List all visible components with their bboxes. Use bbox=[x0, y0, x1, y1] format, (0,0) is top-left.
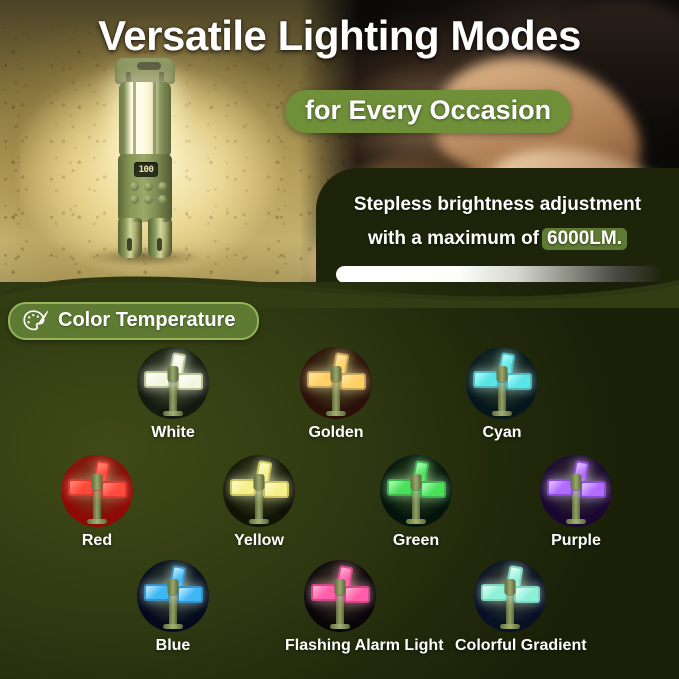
light-head-hub bbox=[571, 474, 582, 490]
light-mode-label: Cyan bbox=[447, 424, 557, 442]
light-head-hub bbox=[335, 579, 346, 595]
led-panel-right bbox=[177, 373, 203, 390]
lantern-legs bbox=[118, 218, 172, 258]
headline-subtitle-badge: for Every Occasion bbox=[285, 90, 571, 133]
light-mode-label: Green bbox=[361, 532, 471, 550]
led-lens bbox=[422, 483, 444, 496]
light-stand-foot bbox=[163, 411, 183, 416]
light-stand-pole bbox=[572, 491, 580, 521]
led-lens bbox=[70, 481, 92, 494]
led-panel-right bbox=[344, 586, 370, 603]
led-panel-right bbox=[340, 373, 366, 390]
light-stand-foot bbox=[492, 411, 512, 416]
led-lens bbox=[389, 481, 411, 494]
color-mode-flashing-alarm-light[interactable]: Flashing Alarm Light bbox=[285, 560, 395, 655]
light-mode-thumbnail[interactable] bbox=[540, 455, 612, 527]
led-panel-right bbox=[506, 373, 532, 390]
led-panel-left bbox=[311, 584, 337, 601]
brightness-line-1: Stepless brightness adjustment bbox=[316, 194, 679, 216]
light-mode-label: Yellow bbox=[204, 532, 314, 550]
light-stand-foot bbox=[566, 519, 586, 524]
brightness-line-2: with a maximum of6000LM. bbox=[316, 228, 679, 250]
light-head-hub bbox=[92, 474, 103, 490]
lantern-tube-rib bbox=[153, 82, 156, 158]
led-lens bbox=[483, 586, 505, 599]
led-panel-left bbox=[144, 584, 170, 601]
led-panel-right bbox=[514, 586, 540, 603]
led-lens bbox=[265, 483, 287, 496]
led-lens bbox=[549, 481, 571, 494]
led-panel-left bbox=[481, 584, 507, 601]
light-stand-foot bbox=[249, 519, 269, 524]
light-mode-label: Colorful Gradient bbox=[455, 637, 565, 655]
light-mode-thumbnail[interactable] bbox=[137, 560, 209, 632]
led-panel-left bbox=[144, 371, 170, 388]
led-lens bbox=[146, 586, 168, 599]
light-mode-thumbnail[interactable] bbox=[466, 347, 538, 419]
lantern-key bbox=[158, 182, 167, 191]
light-mode-thumbnail[interactable] bbox=[61, 455, 133, 527]
lantern-display-value: 100 bbox=[139, 165, 154, 175]
palette-icon bbox=[23, 310, 49, 332]
light-stand-pole bbox=[332, 383, 340, 413]
light-head-hub bbox=[168, 366, 179, 382]
lantern-leg-slot bbox=[127, 238, 132, 251]
light-stand-pole bbox=[498, 383, 506, 413]
color-mode-purple[interactable]: Purple bbox=[521, 455, 631, 550]
led-lens bbox=[508, 375, 530, 388]
lantern-cap bbox=[115, 58, 175, 84]
led-lens bbox=[475, 373, 497, 386]
light-mode-thumbnail[interactable] bbox=[380, 455, 452, 527]
lantern-keypad bbox=[130, 182, 167, 204]
lantern-light-tube bbox=[119, 82, 171, 158]
color-mode-yellow[interactable]: Yellow bbox=[204, 455, 314, 550]
led-lens bbox=[313, 586, 335, 599]
led-panel-left bbox=[68, 479, 94, 496]
color-temperature-label: Color Temperature bbox=[58, 309, 235, 332]
light-mode-thumbnail[interactable] bbox=[304, 560, 376, 632]
led-panel-left bbox=[473, 371, 499, 388]
light-mode-label: Purple bbox=[521, 532, 631, 550]
light-stand-pole bbox=[336, 596, 344, 626]
led-panel-left bbox=[307, 371, 333, 388]
lantern-body: 100 bbox=[118, 154, 172, 222]
led-panel-right bbox=[101, 481, 127, 498]
light-stand-foot bbox=[326, 411, 346, 416]
led-lens bbox=[146, 373, 168, 386]
lantern-top-button bbox=[137, 62, 161, 70]
lantern-leg-slot bbox=[157, 238, 162, 251]
color-mode-colorful-gradient[interactable]: Colorful Gradient bbox=[455, 560, 565, 655]
light-mode-label: Blue bbox=[118, 637, 228, 655]
led-lens bbox=[179, 588, 201, 601]
lantern-key bbox=[158, 195, 167, 204]
light-mode-thumbnail[interactable] bbox=[474, 560, 546, 632]
light-stand-foot bbox=[406, 519, 426, 524]
light-head-hub bbox=[254, 474, 265, 490]
color-mode-golden[interactable]: Golden bbox=[281, 347, 391, 442]
lantern-leg-left bbox=[118, 218, 142, 258]
light-head-hub bbox=[505, 579, 516, 595]
light-head-hub bbox=[411, 474, 422, 490]
light-stand-pole bbox=[93, 491, 101, 521]
lantern-tube-rib bbox=[133, 82, 136, 158]
led-lens bbox=[103, 483, 125, 496]
lumens-badge: 6000LM. bbox=[542, 228, 627, 250]
light-stand-pole bbox=[169, 383, 177, 413]
light-stand-pole bbox=[412, 491, 420, 521]
light-mode-thumbnail[interactable] bbox=[300, 347, 372, 419]
color-mode-green[interactable]: Green bbox=[361, 455, 471, 550]
light-stand-pole bbox=[506, 596, 514, 626]
led-lens bbox=[582, 483, 604, 496]
light-head-hub bbox=[497, 366, 508, 382]
light-mode-label: White bbox=[118, 424, 228, 442]
color-temperature-header: Color Temperature bbox=[8, 302, 259, 340]
color-mode-red[interactable]: Red bbox=[42, 455, 152, 550]
light-mode-thumbnail[interactable] bbox=[223, 455, 295, 527]
lantern-key bbox=[130, 182, 139, 191]
led-lens bbox=[232, 481, 254, 494]
led-panel-right bbox=[580, 481, 606, 498]
light-mode-label: Golden bbox=[281, 424, 391, 442]
color-mode-blue[interactable]: Blue bbox=[118, 560, 228, 655]
light-head-hub bbox=[331, 366, 342, 382]
light-stand-foot bbox=[87, 519, 107, 524]
led-lens bbox=[309, 373, 331, 386]
lantern-key bbox=[130, 195, 139, 204]
led-lens bbox=[342, 375, 364, 388]
light-mode-label: Flashing Alarm Light bbox=[285, 637, 395, 655]
led-lens bbox=[179, 375, 201, 388]
led-panel-right bbox=[263, 481, 289, 498]
light-mode-label: Red bbox=[42, 532, 152, 550]
product-infographic: 100 Versatile bbox=[0, 0, 679, 679]
led-panel-left bbox=[230, 479, 256, 496]
lantern-display: 100 bbox=[134, 162, 158, 177]
light-stand-foot bbox=[500, 624, 520, 629]
lantern-leg-right bbox=[148, 218, 172, 258]
led-panel-left bbox=[547, 479, 573, 496]
light-stand-pole bbox=[255, 491, 263, 521]
lantern-key bbox=[144, 195, 153, 204]
led-lens bbox=[516, 588, 538, 601]
led-lens bbox=[346, 588, 368, 601]
light-stand-foot bbox=[330, 624, 350, 629]
led-panel-right bbox=[177, 586, 203, 603]
color-mode-white[interactable]: White bbox=[118, 347, 228, 442]
camping-lantern-product: 100 bbox=[107, 58, 183, 258]
brightness-line-2-prefix: with a maximum of bbox=[368, 228, 539, 249]
color-mode-cyan[interactable]: Cyan bbox=[447, 347, 557, 442]
led-panel-left bbox=[387, 479, 413, 496]
light-stand-foot bbox=[163, 624, 183, 629]
led-panel-right bbox=[420, 481, 446, 498]
page-title: Versatile Lighting Modes bbox=[0, 12, 679, 60]
light-mode-thumbnail[interactable] bbox=[137, 347, 209, 419]
light-stand-pole bbox=[169, 596, 177, 626]
lantern-key bbox=[144, 182, 153, 191]
light-head-hub bbox=[168, 579, 179, 595]
